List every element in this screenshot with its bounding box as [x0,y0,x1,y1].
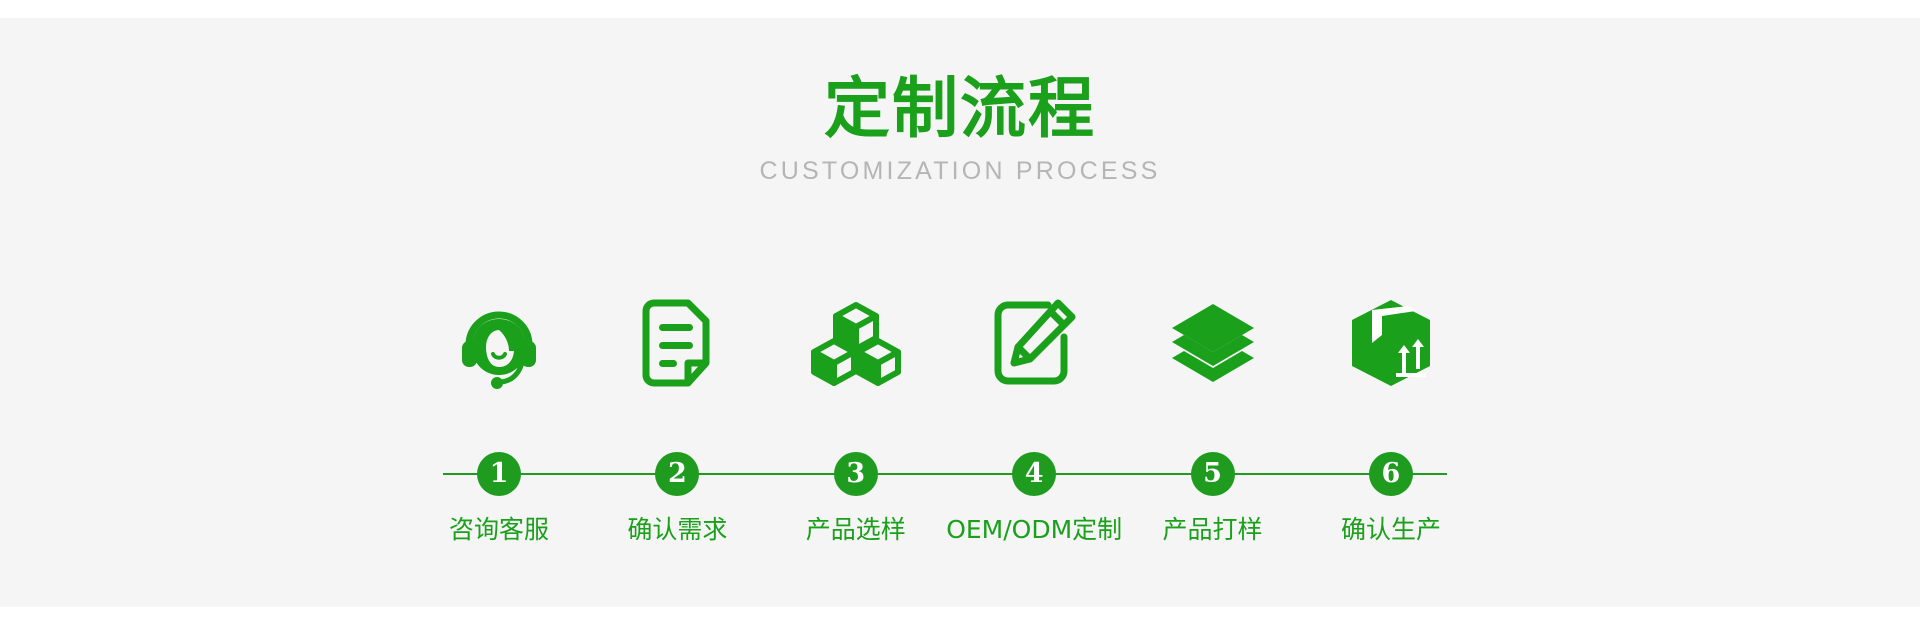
step-icon-cell-4 [945,283,1123,403]
step-label-3: 产品选样 [767,515,945,545]
page-subtitle: CUSTOMIZATION PROCESS [0,156,1920,186]
document-lines-icon [640,297,714,389]
step-icon-cell-2 [588,283,766,403]
stacked-cubes-icon [810,297,902,389]
step-number-badge-3[interactable]: 3 [834,452,878,496]
timeline-nodes: 1 2 3 4 5 6 [410,451,1480,497]
layers-stack-icon [1170,302,1256,384]
step-icon-cell-6 [1302,283,1480,403]
step-label-5: 产品打样 [1124,515,1302,545]
timeline-node-cell-5: 5 [1124,451,1302,497]
step-icon-cell-5 [1124,283,1302,403]
step-icon-cell-3 [767,283,945,403]
timeline-node-cell-1: 1 [410,451,588,497]
step-label-cell-4: OEM/ODM定制 [945,515,1123,545]
timeline-node-cell-2: 2 [588,451,766,497]
step-label-cell-3: 产品选样 [767,515,945,545]
headset-support-icon [459,297,539,389]
step-label-cell-6: 确认生产 [1302,515,1480,545]
timeline-node-cell-6: 6 [1302,451,1480,497]
customization-process-banner: 定制流程 CUSTOMIZATION PROCESS [0,18,1920,607]
heading-block: 定制流程 CUSTOMIZATION PROCESS [0,70,1920,186]
step-label-row: 咨询客服 确认需求 产品选样 OEM/ODM定制 产品打样 确认生产 [410,515,1480,545]
timeline-node-cell-3: 3 [767,451,945,497]
step-icon-cell-1 [410,283,588,403]
step-number-badge-6[interactable]: 6 [1369,452,1413,496]
step-label-cell-2: 确认需求 [588,515,766,545]
step-number-badge-2[interactable]: 2 [655,452,699,496]
step-number-badge-4[interactable]: 4 [1012,452,1056,496]
step-label-4: OEM/ODM定制 [945,515,1123,545]
step-label-1: 咨询客服 [410,515,588,545]
step-label-6: 确认生产 [1302,515,1480,545]
step-number-badge-5[interactable]: 5 [1191,452,1235,496]
timeline-node-cell-4: 4 [945,451,1123,497]
step-timeline: 1 2 3 4 5 6 [410,451,1480,497]
step-number-badge-1[interactable]: 1 [477,452,521,496]
page-title: 定制流程 [0,70,1920,148]
step-label-cell-5: 产品打样 [1124,515,1302,545]
step-label-2: 确认需求 [588,515,766,545]
pencil-square-edit-icon [992,299,1076,387]
package-box-arrows-icon [1346,297,1436,389]
step-label-cell-1: 咨询客服 [410,515,588,545]
step-icon-row [410,283,1480,403]
process-steps: 1 2 3 4 5 6 咨 [410,283,1480,573]
